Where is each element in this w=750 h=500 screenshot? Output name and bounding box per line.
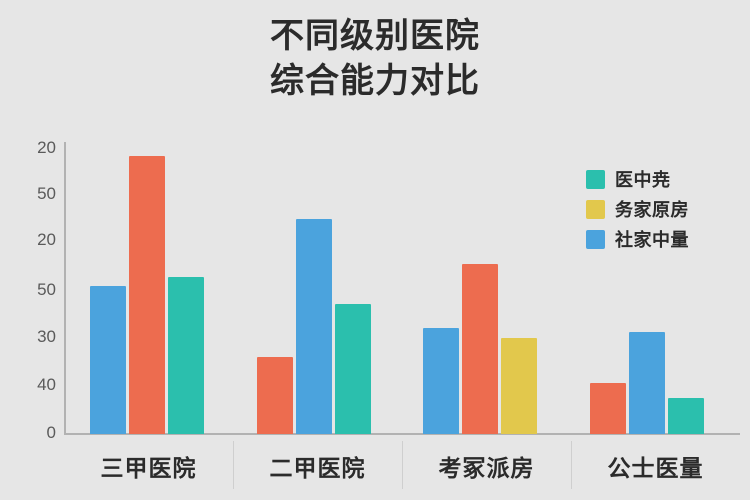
x-axis-category-2[interactable]: 二甲医院 [233, 437, 402, 495]
x-axis-category-label: 二甲医院 [270, 449, 366, 483]
legend-item-1[interactable]: 医中尭 [586, 164, 696, 194]
title-line-1: 不同级别医院 [0, 14, 750, 59]
bar-4-3[interactable] [668, 398, 704, 434]
x-axis-category-strip: 三甲医院二甲医院考冢派房公士医量 [64, 437, 740, 495]
x-axis-category-1[interactable]: 三甲医院 [64, 437, 233, 495]
y-axis-tick-1: 50 [10, 184, 56, 204]
bar-group-1 [64, 140, 231, 434]
page-title: 不同级别医院 综合能力对比 [0, 14, 750, 104]
category-separator-1 [233, 441, 234, 489]
bar-1-3[interactable] [168, 277, 204, 434]
x-axis-category-label: 公士医量 [608, 449, 704, 483]
legend-item-2[interactable]: 务家原房 [586, 194, 696, 224]
y-axis-tick-5: 40 [10, 375, 56, 395]
y-axis-tick-2: 20 [10, 230, 56, 250]
legend-swatch-icon [586, 170, 605, 189]
bar-group-3 [397, 140, 564, 434]
x-axis-category-3[interactable]: 考冢派房 [402, 437, 571, 495]
category-separator-2 [402, 441, 403, 489]
title-line-2: 综合能力对比 [0, 59, 750, 104]
bar-2-1[interactable] [257, 357, 293, 434]
legend-item-label: 社家中量 [615, 226, 689, 252]
bar-1-2[interactable] [129, 156, 165, 434]
bar-group-2 [231, 140, 398, 434]
legend-swatch-icon [586, 200, 605, 219]
legend-swatch-icon [586, 230, 605, 249]
bar-2-3[interactable] [335, 304, 371, 434]
bar-3-3[interactable] [501, 338, 537, 434]
legend-item-3[interactable]: 社家中量 [586, 224, 696, 254]
y-axis-tick-3: 50 [10, 280, 56, 300]
y-axis-tick-4: 30 [10, 327, 56, 347]
bar-2-2[interactable] [296, 219, 332, 434]
y-axis-tick-6: 0 [10, 423, 56, 443]
category-separator-3 [571, 441, 572, 489]
x-axis-category-label: 考冢派房 [439, 449, 535, 483]
bar-3-2[interactable] [462, 264, 498, 434]
bar-4-2[interactable] [629, 332, 665, 434]
bar-1-1[interactable] [90, 286, 126, 434]
bar-3-1[interactable] [423, 328, 459, 434]
legend-item-label: 医中尭 [615, 166, 671, 192]
x-axis-category-4[interactable]: 公士医量 [571, 437, 740, 495]
legend-item-label: 务家原房 [615, 196, 689, 222]
y-axis-tick-labels: 2050205030400 [8, 0, 56, 500]
y-axis-tick-0: 20 [10, 138, 56, 158]
chart-legend: 医中尭务家原房社家中量 [586, 164, 696, 254]
bar-4-1[interactable] [590, 383, 626, 434]
x-axis-category-label: 三甲医院 [101, 449, 197, 483]
